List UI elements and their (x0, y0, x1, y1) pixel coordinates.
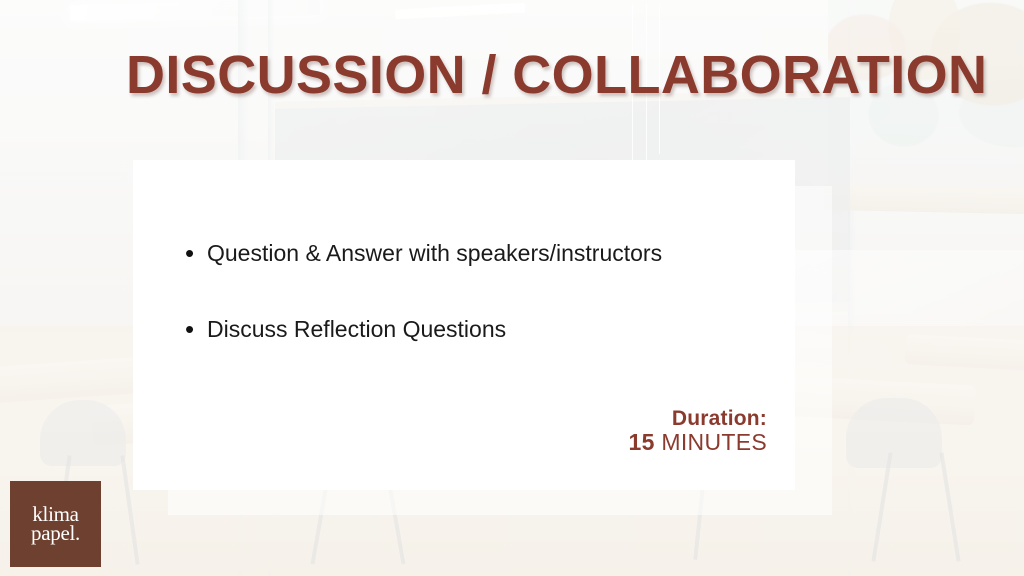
duration-number: 15 (629, 429, 655, 455)
list-item-label: Question & Answer with speakers/instruct… (207, 238, 662, 268)
bullet-point-icon: • (185, 238, 199, 268)
slide-title: DISCUSSION / COLLABORATION (126, 44, 987, 106)
duration-unit: MINUTES (661, 429, 767, 455)
logo: klima papel. (10, 481, 101, 567)
list-item: • Discuss Reflection Questions (185, 314, 755, 344)
content-card: • Question & Answer with speakers/instru… (133, 160, 795, 490)
list-item-label: Discuss Reflection Questions (207, 314, 506, 344)
list-item: • Question & Answer with speakers/instru… (185, 238, 755, 268)
duration-block: Duration: 15 MINUTES (629, 407, 768, 456)
logo-line-2: papel. (31, 524, 80, 543)
logo-text: klima papel. (31, 505, 80, 544)
slide: DISCUSSION / COLLABORATION • Question & … (0, 0, 1024, 576)
bullet-point-icon: • (185, 314, 199, 344)
duration-label: Duration: (629, 407, 768, 431)
bullet-list: • Question & Answer with speakers/instru… (185, 238, 755, 390)
duration-value: 15 MINUTES (629, 430, 768, 456)
